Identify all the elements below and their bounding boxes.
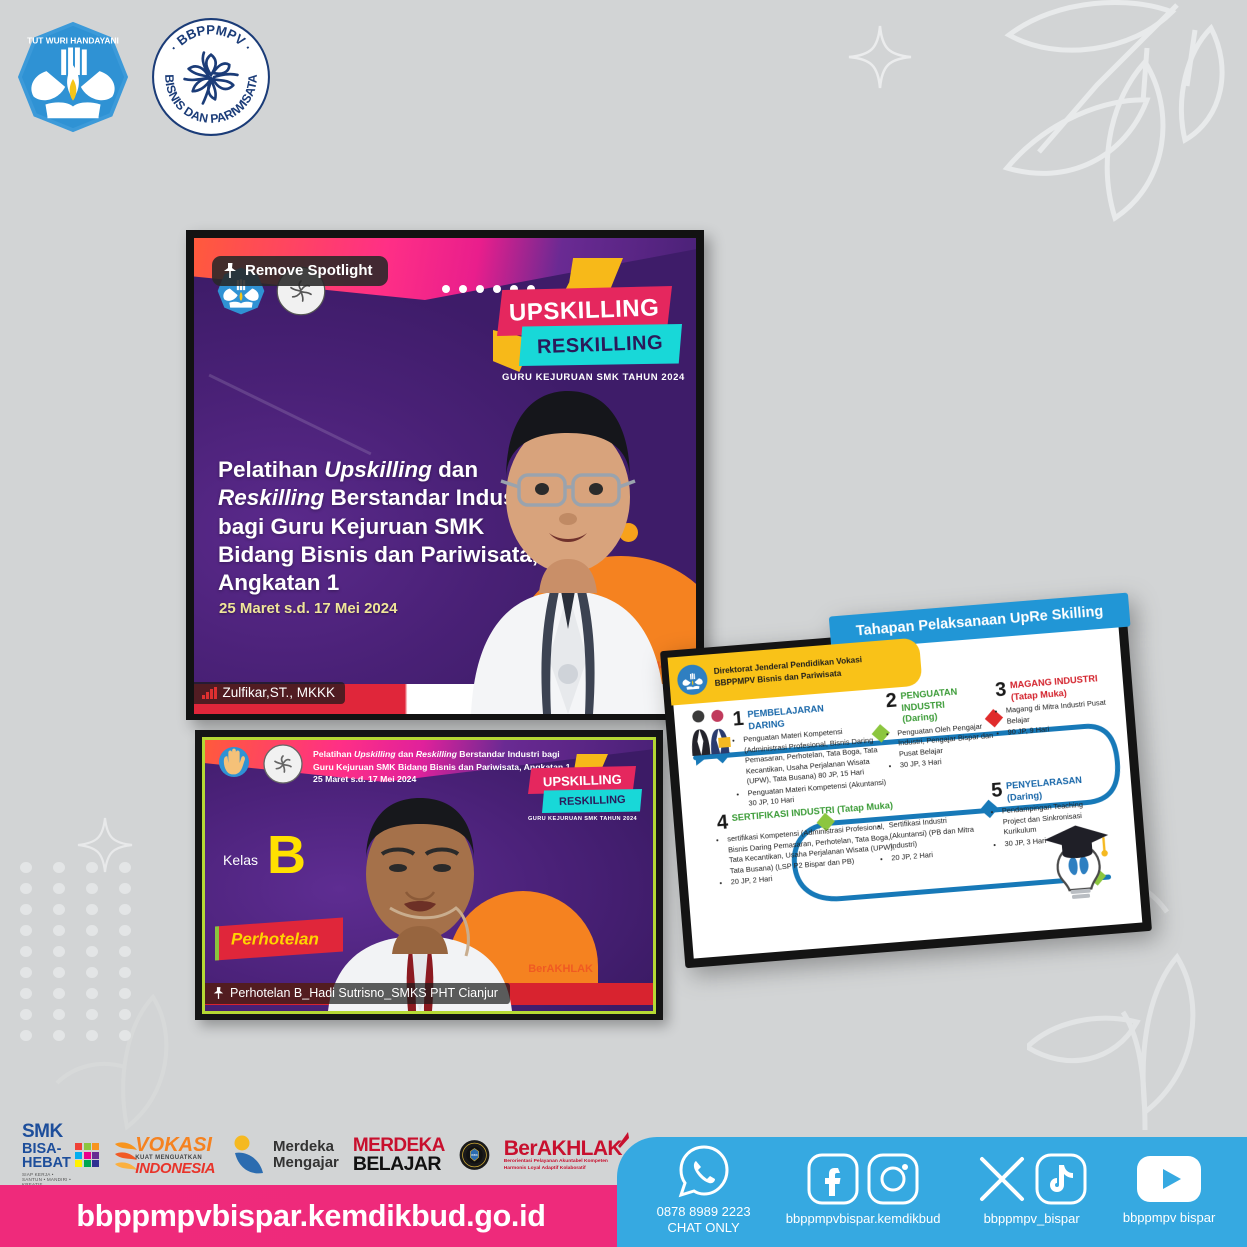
step-1-number: 1	[732, 710, 745, 730]
slide-title-l1em: Upskilling	[324, 457, 432, 482]
facebook-icon	[806, 1152, 860, 1206]
step-5-title: PENYELARASAN (Daring)	[1006, 775, 1084, 804]
mm-line1: Merdeka	[273, 1139, 339, 1156]
leaf-decoration-bottom-left	[55, 967, 205, 1137]
main-participant-name: Zulfikar,ST., MKKK	[223, 685, 336, 700]
ba-line1: BerAKHLAK	[504, 1138, 622, 1159]
x-tiktok-icons	[976, 1152, 1088, 1206]
slide-title-l5: Angkatan 1	[218, 570, 339, 595]
step-3-number: 3	[995, 681, 1008, 701]
merdeka-mengajar-logo: Merdeka Mengajar	[229, 1133, 339, 1177]
people-illustration-icon	[686, 705, 734, 756]
step-5-number: 5	[991, 781, 1004, 801]
social-x-tiktok[interactable]: bbppmpv_bispar	[976, 1152, 1088, 1227]
sec-text-em2: Reskilling	[416, 749, 457, 759]
footer-social-bar: 0878 8989 2223 CHAT ONLY bbppmpvbispar.k…	[617, 1137, 1247, 1247]
step-2: 2 PENGUATAN INDUSTRI (Daring) Penguatan …	[885, 684, 1001, 773]
step-2-title: PENGUATAN INDUSTRI (Daring)	[900, 684, 997, 726]
slide-title-l2em: Reskilling	[218, 485, 324, 510]
header-logos: TUT WURI HANDAYANI · BBPPMPV · BISNIS DA…	[14, 16, 272, 138]
smk-line1: SMK	[22, 1123, 73, 1141]
merdeka-belajar-logo: MERDEKA BELAJAR	[353, 1137, 445, 1174]
youtube-icons	[1134, 1153, 1204, 1205]
main-video-content: UPSKILLING RESKILLING GURU KEJURUAN SMK …	[194, 238, 696, 714]
infographic-institution-text: Direktorat Jenderal Pendidikan Vokasi BB…	[713, 654, 863, 690]
main-video-tile[interactable]: UPSKILLING RESKILLING GURU KEJURUAN SMK …	[186, 230, 704, 720]
step-4: 4 SERTIFIKASI INDUSTRI (Tatap Muka) sert…	[716, 800, 901, 890]
infographic-tutwuri-icon	[676, 664, 708, 696]
step-4-extra: Sertifikasi Industri (Akuntansi) (PB dan…	[879, 811, 982, 865]
step-1-title: PEMBELAJARAN DARING	[747, 703, 825, 732]
pin-icon	[223, 262, 237, 279]
whatsapp-number: 0878 8989 2223	[657, 1204, 751, 1220]
smk-squares-icon	[75, 1143, 99, 1167]
whatsapp-label: 0878 8989 2223 CHAT ONLY	[657, 1204, 751, 1235]
vokasi-line3: INDONESIA	[135, 1161, 215, 1176]
second-video-content: Pelatihan Upskilling dan Reskilling Bers…	[202, 737, 656, 1014]
step-2-title-l2: (Daring)	[902, 711, 938, 724]
tiktok-icon	[1034, 1152, 1088, 1206]
sparkle-icon-left	[75, 815, 135, 875]
fb-ig-label: bbppmpvbispar.kemdikbud	[786, 1211, 941, 1227]
remove-spotlight-label: Remove Spotlight	[245, 262, 373, 279]
raised-hand-icon	[215, 746, 253, 778]
svg-text:TUT WURI HANDAYANI: TUT WURI HANDAYANI	[27, 36, 119, 46]
slide-date: 25 Maret s.d. 17 Mei 2024	[219, 600, 397, 617]
tut-wuri-handayani-logo: TUT WURI HANDAYANI	[14, 18, 132, 136]
youtube-icon	[1134, 1153, 1204, 1205]
infographic-panel[interactable]: Tahapan Pelaksanaan UpRe Skilling Direkt…	[660, 614, 1152, 969]
step-2-title-l1: PENGUATAN INDUSTRI	[900, 687, 957, 713]
step-5-title-l2: (Daring)	[1007, 790, 1043, 803]
main-participant-namebar: Zulfikar,ST., MKKK	[194, 682, 345, 704]
step-5: 5 PENYELARASAN (Daring) Pendampingan Tea…	[991, 774, 1104, 852]
whatsapp-icons	[676, 1143, 732, 1199]
x-twitter-icon	[976, 1153, 1028, 1205]
vokasi-logo: VOKASI KUAT MENGUATKAN INDONESIA	[113, 1135, 215, 1176]
sec-badge-upskilling-text: UPSKILLING	[542, 771, 621, 789]
merdeka-mengajar-icon	[229, 1133, 267, 1177]
step-4-number: 4	[716, 813, 729, 833]
sec-text-mid: dan	[396, 749, 416, 759]
page-footer: SMK BISA-HEBAT SIAP KERJA • SANTUN • MAN…	[0, 1122, 1247, 1247]
step-1-title-l2: DARING	[748, 718, 785, 731]
infographic-card: Tahapan Pelaksanaan UpRe Skilling Direkt…	[660, 614, 1152, 969]
berakhlak-check-icon	[616, 1130, 630, 1148]
step-3: 3 MAGANG INDUSTRI (Tatap Muka) Magang di…	[995, 672, 1117, 740]
instagram-icon	[866, 1152, 920, 1206]
second-participant-name: Perhotelan B_Hadi Sutrisno_SMKS PHT Cian…	[230, 986, 498, 1000]
social-whatsapp[interactable]: 0878 8989 2223 CHAT ONLY	[657, 1143, 751, 1235]
signal-strength-icon	[202, 687, 217, 699]
step-1: 1 PEMBELAJARAN DARING Penguatan Materi K…	[732, 699, 892, 811]
social-youtube[interactable]: bbppmpv bispar	[1123, 1153, 1216, 1226]
remove-spotlight-button[interactable]: Remove Spotlight	[212, 256, 388, 286]
sec-badge-reskilling-text: RESKILLING	[558, 794, 625, 808]
smk-bisa-hebat-logo: SMK BISA-HEBAT SIAP KERJA • SANTUN • MAN…	[22, 1123, 99, 1186]
footer-website-url: bbppmpvbispar.kemdikbud.go.id	[76, 1199, 545, 1234]
second-upskilling-reskilling-badge: UPSKILLING RESKILLING GURU KEJURUAN SMK …	[520, 754, 645, 832]
youtube-label: bbppmpv bispar	[1123, 1210, 1216, 1226]
mb-line2: BELAJAR	[353, 1155, 445, 1174]
second-participant-image	[320, 796, 535, 1011]
bbppmpv-bispar-logo: · BBPPMPV · BISNIS DAN PARIWISATA	[150, 16, 272, 138]
whatsapp-note: CHAT ONLY	[657, 1220, 751, 1236]
second-slide-bbppmpv-icon	[263, 744, 303, 784]
sec-badge-subtitle: GURU KEJURUAN SMK TAHUN 2024	[520, 816, 645, 822]
kelas-label: Kelas	[223, 852, 258, 868]
second-participant-namebar: Perhotelan B_Hadi Sutrisno_SMKS PHT Cian…	[205, 983, 510, 1004]
x-tiktok-label: bbppmpv_bispar	[984, 1211, 1080, 1227]
footer-partner-logos: SMK BISA-HEBAT SIAP KERJA • SANTUN • MAN…	[0, 1125, 622, 1185]
step-1-bullets: Penguatan Materi Kompetensi (Administras…	[734, 723, 891, 810]
step-2-bullets: Penguatan Oleh Pengajar Industri, Pengaj…	[888, 720, 1001, 772]
ba-line2: Berorientasi Pelayanan Akuntabel Kompete…	[504, 1159, 622, 1172]
vokasi-line1: VOKASI	[135, 1135, 215, 1155]
presenter-image	[431, 329, 696, 714]
sec-text-em1: Upskilling	[354, 749, 396, 759]
infographic-body: 1 PEMBELAJARAN DARING Penguatan Materi K…	[674, 671, 1143, 958]
sparkle-icon-top	[845, 22, 915, 92]
pin-icon-small	[213, 986, 224, 1000]
sec-text-l3: 25 Maret s.d. 17 Mei 2024	[313, 774, 416, 784]
leaf-decoration-top-right	[947, 0, 1247, 320]
berakhlak-logo: BerAKHLAK Berorientasi Pelayanan Akuntab…	[504, 1138, 622, 1172]
svg-text:WBK: WBK	[471, 1153, 478, 1157]
dot-grid-decoration	[20, 862, 140, 1047]
sec-text-l1: Pelatihan	[313, 749, 354, 759]
footer-website-banner: bbppmpvbispar.kemdikbud.go.id	[0, 1185, 622, 1247]
whatsapp-icon	[676, 1143, 732, 1199]
step-5-bullets: Pendampingan Teaching Project dan Sinkro…	[993, 798, 1104, 850]
jurusan-label: Perhotelan	[231, 929, 319, 949]
social-facebook-instagram[interactable]: bbppmpvbispar.kemdikbud	[786, 1152, 941, 1227]
mm-line2: Mengajar	[273, 1155, 339, 1172]
sec-badge-reskilling: RESKILLING	[542, 789, 642, 813]
second-slide-berakhlak: BerAKHLAK	[528, 963, 593, 975]
step-4-extra-bullets: Sertifikasi Industri (Akuntansi) (PB dan…	[879, 813, 982, 864]
step-2-number: 2	[885, 691, 898, 711]
smk-line2: BISA-HEBAT	[22, 1142, 73, 1171]
slide-title-l1a: Pelatihan	[218, 457, 324, 482]
second-video-tile[interactable]: Pelatihan Upskilling dan Reskilling Bers…	[195, 730, 663, 1020]
kemdikbud-seal-icon: WBK	[459, 1129, 490, 1181]
fb-ig-icons	[806, 1152, 920, 1206]
kelas-value: B	[267, 828, 306, 882]
badge-upskilling-text: UPSKILLING	[509, 294, 660, 327]
